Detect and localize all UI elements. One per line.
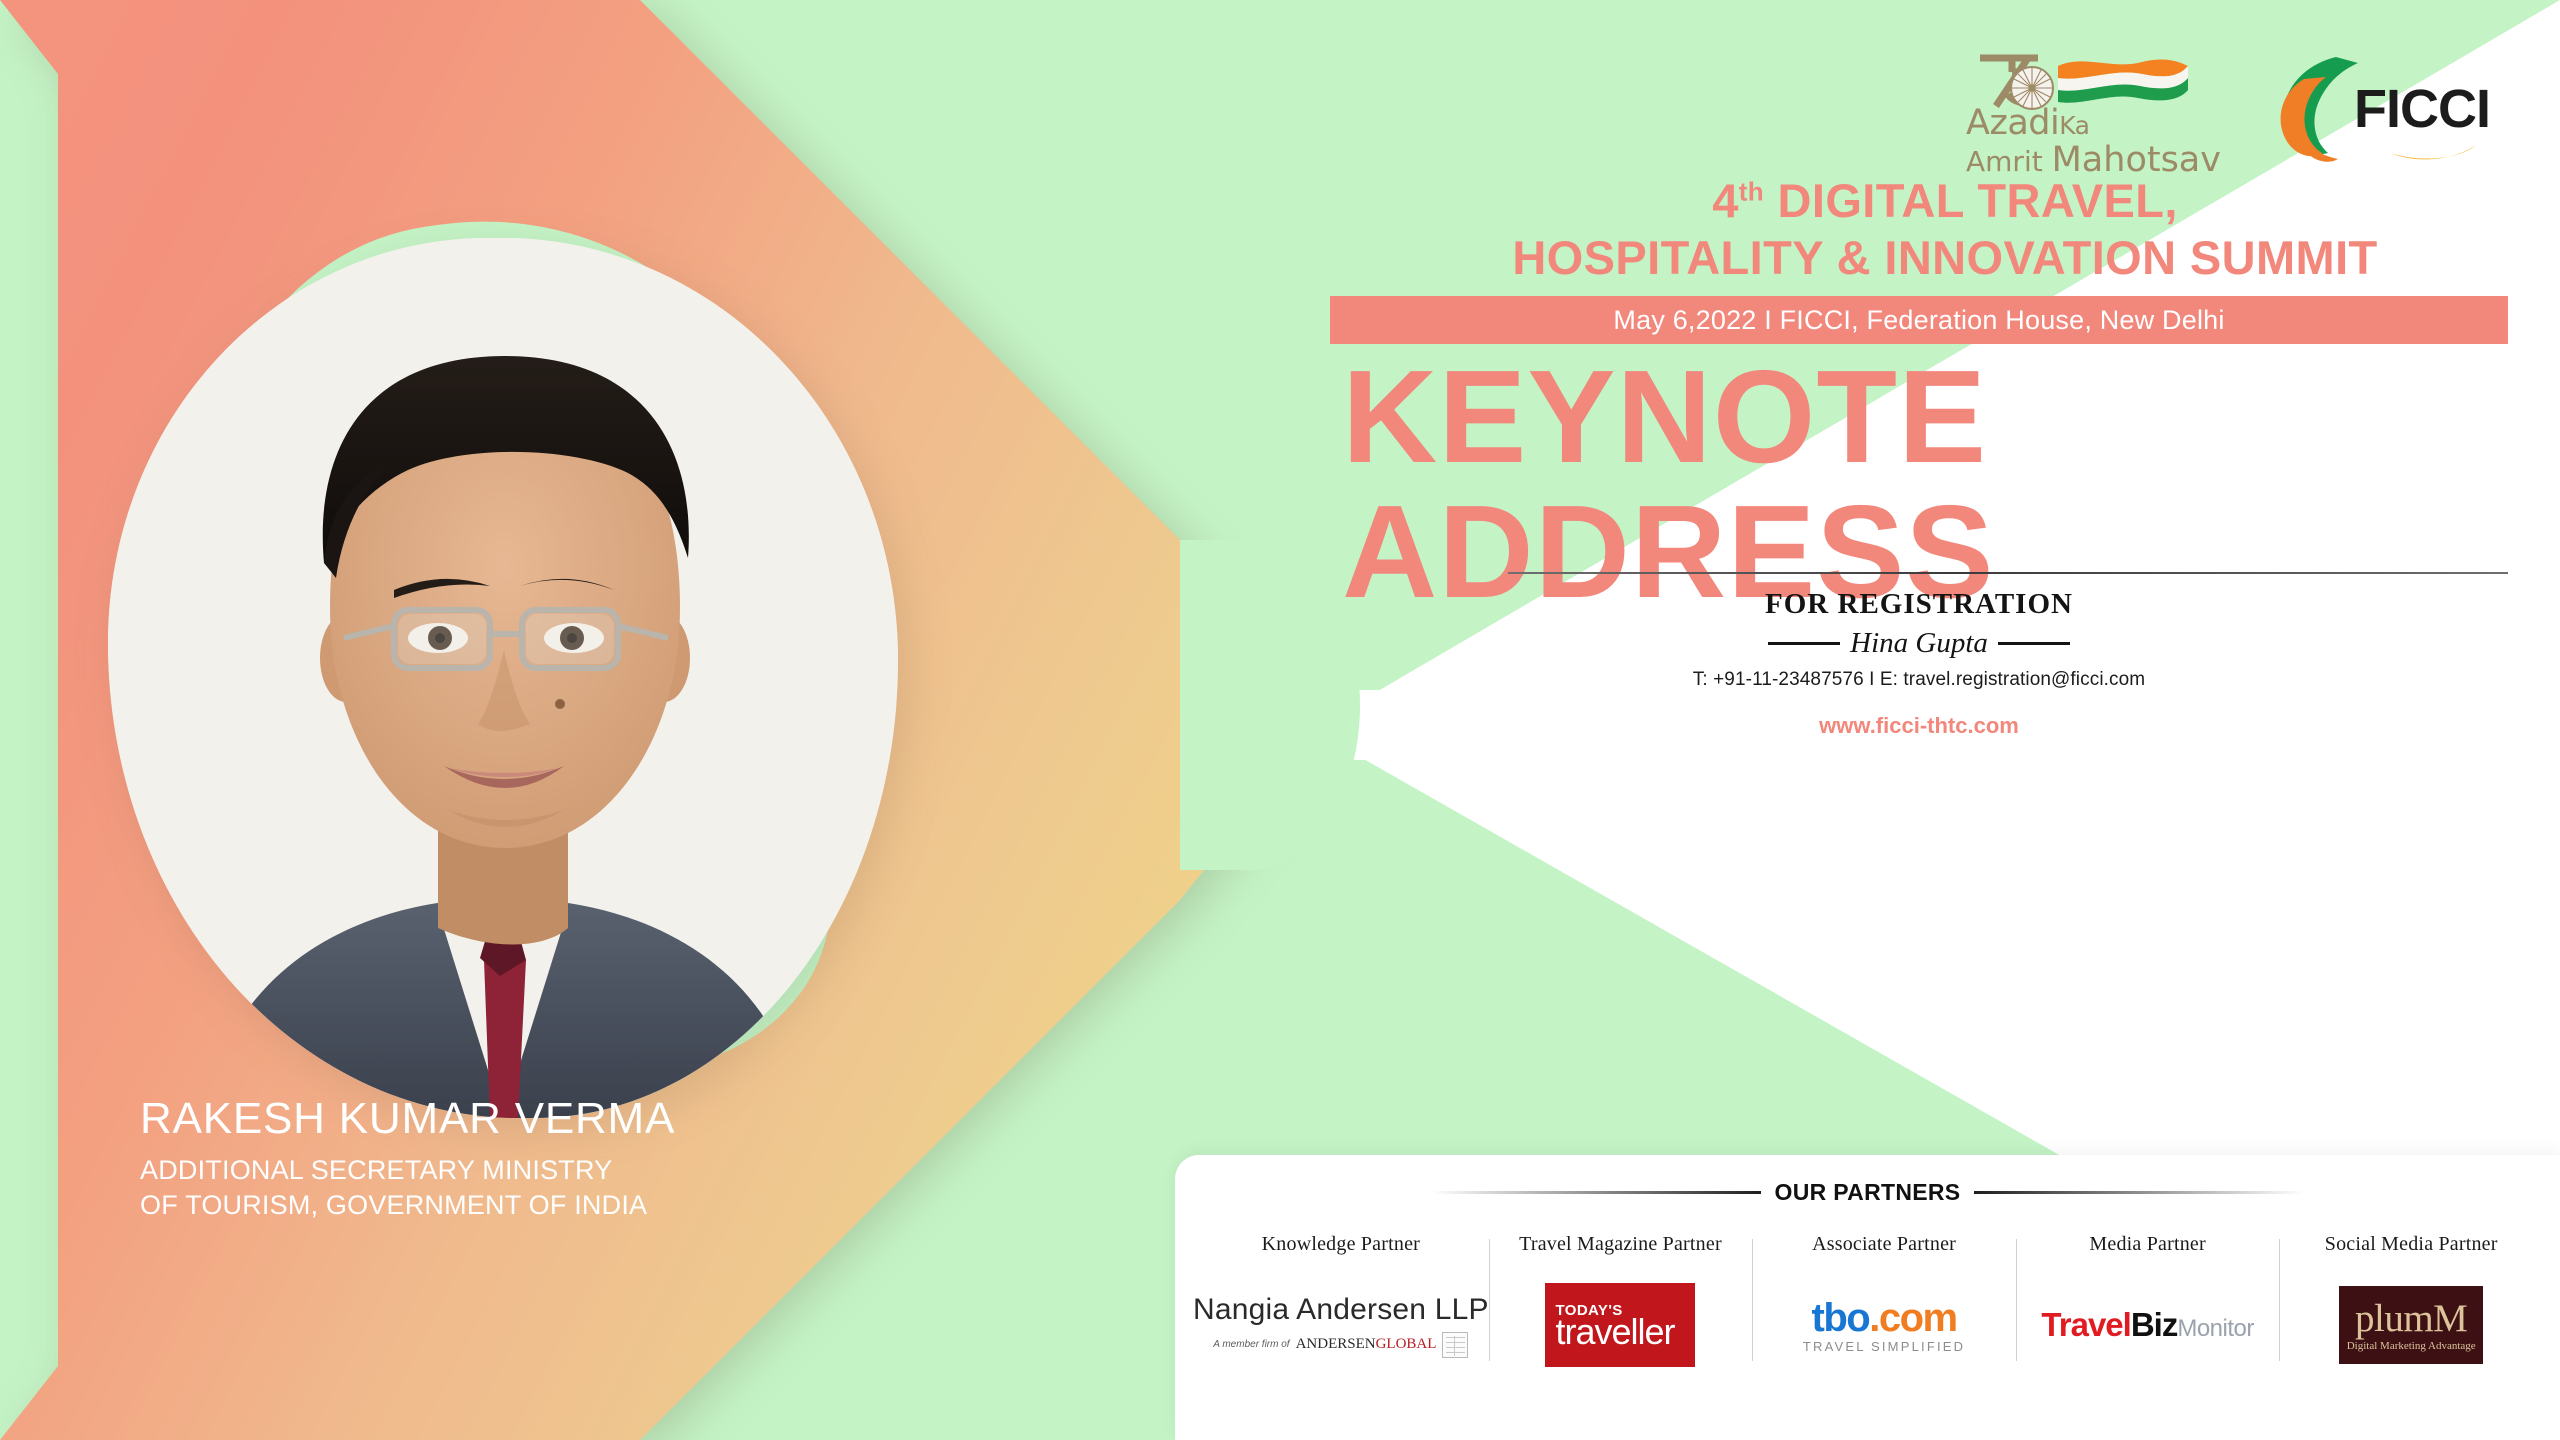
partner-logo-todays-traveller[interactable]: TODAY'S traveller — [1489, 1282, 1753, 1368]
registration-contact-row: Hina Gupta — [1330, 627, 2508, 660]
partner-cell-knowledge: Knowledge Partner Nangia Andersen LLP A … — [1193, 1233, 1489, 1433]
azadi-logo-wordmark: AzadiKa Amrit Mahotsav — [1966, 106, 2244, 178]
partners-section-header: OUR PARTNERS — [1175, 1179, 2560, 1206]
date-venue-text: May 6,2022 I FICCI, Federation House, Ne… — [1613, 305, 2224, 336]
todays-traveller-main: traveller — [1555, 1315, 1674, 1348]
travelbiz-travel: Travel — [2041, 1306, 2130, 1343]
andersen-global-wordmark: ANDERSENGLOBAL — [1296, 1336, 1437, 1353]
plumm-tagline: Digital Marketing Advantage — [2347, 1340, 2476, 1352]
content-column: AzadiKa Amrit Mahotsav FICCI — [1330, 0, 2560, 1440]
headline-block: KEYNOTE ADDRESS — [1330, 350, 2508, 619]
rule-left — [1768, 642, 1840, 645]
svg-text:FICCI: FICCI — [2354, 79, 2490, 139]
partner-cell-media: Media Partner TravelBizMonitor — [2016, 1233, 2280, 1433]
logo-row: AzadiKa Amrit Mahotsav FICCI — [1966, 48, 2498, 168]
azadi-line1-sub: Ka — [2059, 111, 2089, 140]
registration-block: FOR REGISTRATION Hina Gupta T: +91-11-23… — [1330, 588, 2508, 739]
poster-canvas: RAKESH KUMAR VERMA ADDITIONAL SECRETARY … — [0, 0, 2560, 1440]
partner-logo-tbo-com[interactable]: tbo.com TRAVEL SIMPLIFIED — [1752, 1282, 2016, 1368]
partner-label: Knowledge Partner — [1193, 1233, 1489, 1256]
date-venue-bar: May 6,2022 I FICCI, Federation House, Ne… — [1330, 296, 2508, 344]
event-title-block: 4th DIGITAL TRAVEL, HOSPITALITY & INNOVA… — [1330, 172, 2560, 287]
partner-cell-travel-magazine: Travel Magazine Partner TODAY'S travelle… — [1489, 1233, 1753, 1433]
tbo-wordmark: tbo — [1812, 1296, 1870, 1340]
speaker-name: RAKESH KUMAR VERMA — [140, 1095, 1040, 1143]
event-title-ordinal: 4 — [1712, 174, 1739, 227]
ficci-swoosh-icon: FICCI — [2270, 49, 2498, 167]
speaker-role-line-2: OF TOURISM, GOVERNMENT OF INDIA — [140, 1188, 1040, 1223]
partner-cell-associate: Associate Partner tbo.com TRAVEL SIMPLIF… — [1752, 1233, 2016, 1433]
speaker-portrait-photo — [108, 238, 898, 1118]
nangia-wordmark: Nangia Andersen LLP — [1193, 1293, 1489, 1327]
partner-label: Media Partner — [2016, 1233, 2280, 1256]
ficci-logo: FICCI — [2270, 49, 2498, 167]
registration-contact-name: Hina Gupta — [1850, 627, 1988, 660]
partner-logo-travelbiz-monitor[interactable]: TravelBizMonitor — [2016, 1282, 2280, 1368]
nangia-tagline: A member firm of — [1213, 1339, 1289, 1350]
registration-website-link[interactable]: www.ficci-thtc.com — [1330, 713, 2508, 739]
tbo-tagline: TRAVEL SIMPLIFIED — [1803, 1339, 1965, 1354]
partner-label: Social Media Partner — [2279, 1233, 2543, 1256]
building-icon — [1442, 1332, 1468, 1358]
registration-heading: FOR REGISTRATION — [1330, 588, 2508, 621]
tbo-domain: .com — [1869, 1296, 1956, 1340]
speaker-portrait-frame — [108, 238, 898, 1118]
partners-section-title: OUR PARTNERS — [1775, 1179, 1961, 1206]
azadi-ka-amrit-mahotsav-logo: AzadiKa Amrit Mahotsav — [1966, 48, 2244, 168]
travelbiz-monitor: Monitor — [2177, 1315, 2254, 1342]
plumm-wordmark: plumM — [2355, 1299, 2467, 1338]
partner-label: Associate Partner — [1752, 1233, 2016, 1256]
partners-rule-right — [1974, 1191, 2304, 1194]
partner-cell-social-media: Social Media Partner plumM Digital Marke… — [2279, 1233, 2543, 1433]
partners-rule-left — [1431, 1191, 1761, 1194]
event-title-line-2: HOSPITALITY & INNOVATION SUMMIT — [1330, 229, 2560, 286]
event-title-ordinal-suffix: th — [1739, 176, 1764, 206]
partner-label: Travel Magazine Partner — [1489, 1233, 1753, 1256]
partner-logo-nangia-andersen[interactable]: Nangia Andersen LLP A member firm of AND… — [1193, 1282, 1489, 1368]
event-title-line-1-text: DIGITAL TRAVEL, — [1764, 174, 2178, 227]
partners-card: OUR PARTNERS Knowledge Partner Nangia An… — [1175, 1155, 2560, 1440]
rule-right — [1998, 642, 2070, 645]
headline-line-1: KEYNOTE — [1342, 350, 2508, 485]
event-title-line-1: 4th DIGITAL TRAVEL, — [1330, 172, 2560, 229]
speaker-role-line-1: ADDITIONAL SECRETARY MINISTRY — [140, 1153, 1040, 1188]
partners-grid: Knowledge Partner Nangia Andersen LLP A … — [1193, 1233, 2543, 1433]
headline-divider-rule — [1508, 572, 2508, 574]
partner-logo-plumm[interactable]: plumM Digital Marketing Advantage — [2279, 1282, 2543, 1368]
speaker-caption: RAKESH KUMAR VERMA ADDITIONAL SECRETARY … — [140, 1095, 1040, 1222]
azadi-line1-main: Azadi — [1966, 103, 2059, 143]
registration-contact-details[interactable]: T: +91-11-23487576 I E: travel.registrat… — [1330, 669, 2508, 691]
travelbiz-biz: Biz — [2131, 1306, 2178, 1343]
